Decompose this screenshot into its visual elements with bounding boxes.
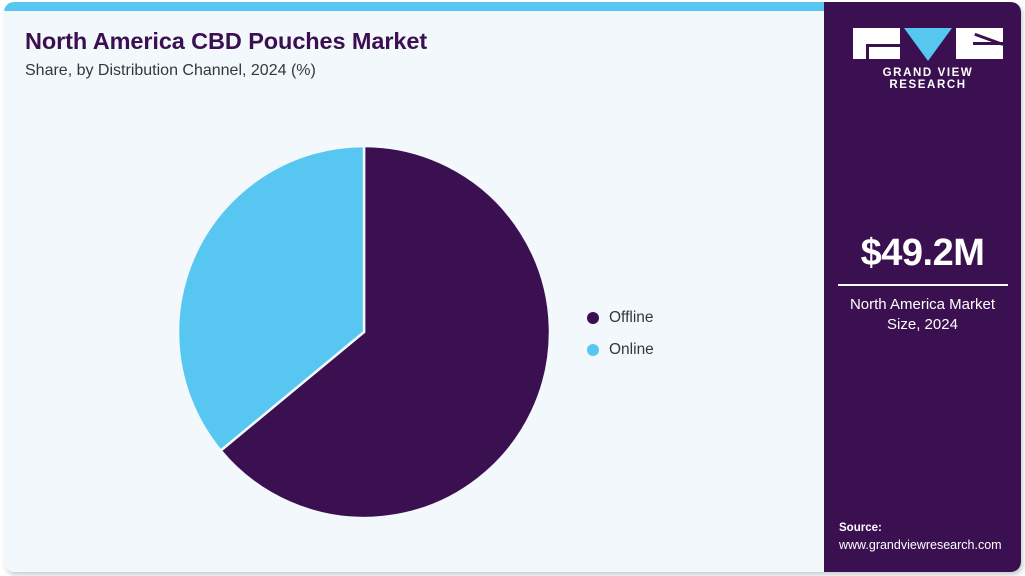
chart-legend: Offline Online <box>587 302 767 366</box>
logo-g-icon <box>853 28 900 59</box>
legend-item-label: Offline <box>609 310 654 326</box>
stat-caption: North America Market Size, 2024 <box>824 295 1021 336</box>
infographic-root: North America CBD Pouches Market Share, … <box>0 0 1025 576</box>
brand-logo: GRAND VIEW RESEARCH <box>853 28 1003 91</box>
source-block: Source: www.grandviewresearch.com <box>839 520 1021 554</box>
page-title: North America CBD Pouches Market <box>25 28 427 55</box>
logo-r-icon <box>956 28 1003 59</box>
brand-panel: GRAND VIEW RESEARCH $49.2M North America… <box>824 2 1021 572</box>
stat-value: $49.2M <box>824 234 1021 272</box>
infographic-card: North America CBD Pouches Market Share, … <box>4 2 1021 572</box>
logo-wordmark: GRAND VIEW RESEARCH <box>853 67 1003 91</box>
logo-v-triangle-icon <box>904 28 952 61</box>
pie-slices <box>178 146 550 518</box>
source-label: Source: <box>839 520 1021 537</box>
pie-chart-svg <box>172 140 556 524</box>
legend-swatch-icon <box>587 344 599 356</box>
pie-chart <box>172 140 556 524</box>
legend-item-online[interactable]: Online <box>587 334 767 366</box>
legend-item-label: Online <box>609 342 654 358</box>
page-subtitle: Share, by Distribution Channel, 2024 (%) <box>25 62 316 80</box>
legend-item-offline[interactable]: Offline <box>587 302 767 334</box>
stat-block: $49.2M North America Market Size, 2024 <box>824 234 1021 335</box>
legend-swatch-icon <box>587 312 599 324</box>
logo-marks <box>853 28 1003 59</box>
stat-divider <box>838 284 1008 286</box>
source-url[interactable]: www.grandviewresearch.com <box>839 537 1021 554</box>
